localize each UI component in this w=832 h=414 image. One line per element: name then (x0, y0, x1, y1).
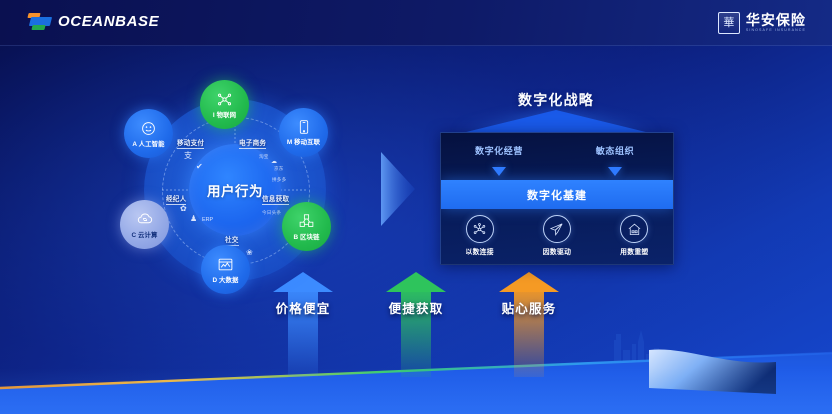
pillar-driven-label: 因数驱动 (543, 246, 571, 256)
node-cloud-computing[interactable]: C 云计算 (120, 200, 169, 249)
brand-label-taobao: 淘宝 (259, 154, 269, 160)
huaan-wordmark-en: SINOSAFE INSURANCE (746, 29, 806, 33)
oceanbase-wordmark: OCEANBASE (58, 13, 159, 30)
cloud-sync-icon (136, 210, 154, 228)
diagram-hub-label: 用户行为 (207, 180, 263, 200)
house-rebuild-icon (620, 215, 648, 243)
segment-label-mobile-pay: 移动支付 (177, 137, 204, 149)
slide-canvas: OCEANBASE 華 华安保险 SINOSAFE INSURANCE 用户行为… (0, 0, 832, 414)
benefit-arrow-price-label: 价格便宜 (255, 298, 351, 317)
node-blockchain-label: B 区块链 (293, 232, 319, 241)
arrow-down-icon-left (492, 167, 506, 176)
huaan-wordmark-cn: 华安保险 (746, 13, 806, 27)
oceanbase-logo: OCEANBASE (28, 13, 159, 30)
node-mobile-internet[interactable]: M 移动互联 (279, 108, 328, 157)
panel-title: 数字化战略 (436, 90, 676, 110)
bigdata-chart-icon (217, 256, 234, 273)
weibo-glyph-icon: ❀ (246, 248, 253, 257)
brand-label-pdd: 拼多多 (272, 177, 286, 183)
node-ai-label: A 人工智能 (132, 139, 164, 148)
oceanbase-flag-icon (28, 13, 51, 30)
flow-chevron-icon (381, 152, 419, 226)
node-bigdata-label: D 大数据 (212, 275, 238, 284)
brand-label-jd: 京东 (274, 166, 284, 172)
mobile-phone-icon (296, 119, 312, 135)
paper-plane-icon (543, 215, 571, 243)
user-behavior-diagram: 用户行为 移动支付 电子商务 经纪人 信息获取 社交 淘宝 京东 拼多多 今日头… (122, 82, 347, 297)
digital-strategy-panel: 数字化战略 数字化经营 敏态组织 数字化基建 (436, 90, 676, 265)
panel-cell-agile-org[interactable]: 敏态组织 (557, 133, 673, 167)
pillar-reshape[interactable]: 用数重塑 (596, 213, 673, 264)
huaan-seal-icon: 華 (718, 12, 740, 34)
panel-cell-operation[interactable]: 数字化经营 (441, 133, 557, 167)
benefit-arrow-access-label: 便捷获取 (368, 298, 464, 317)
gear-glyph-icon: ✿ (180, 204, 187, 213)
benefit-arrow-access[interactable]: 便捷获取 (368, 272, 464, 377)
benefit-arrow-service[interactable]: 贴心服务 (481, 272, 577, 377)
node-iot-label: I 物联网 (213, 110, 236, 119)
person-glyph-icon: ♟ (190, 214, 197, 223)
network-connect-icon (466, 215, 494, 243)
panel-roof-shape (458, 110, 654, 134)
pillar-connect[interactable]: 以数连接 (441, 213, 518, 264)
panel-pillar-row: 以数连接 因数驱动 (441, 213, 673, 264)
benefit-arrow-service-label: 贴心服务 (481, 298, 577, 317)
slide-header: OCEANBASE 華 华安保险 SINOSAFE INSURANCE (0, 0, 832, 46)
pillar-driven[interactable]: 因数驱动 (518, 213, 595, 264)
pillar-connect-label: 以数连接 (465, 246, 493, 256)
huaan-logo: 華 华安保险 SINOSAFE INSURANCE (718, 12, 806, 34)
panel-base-bar-label: 数字化基建 (527, 187, 587, 203)
ai-robot-face-icon (140, 120, 157, 137)
node-mobile-internet-label: M 移动互联 (287, 137, 320, 146)
node-cloud-computing-label: C 云计算 (131, 230, 157, 239)
iot-network-icon (216, 91, 233, 108)
panel-body: 数字化经营 敏态组织 数字化基建 (440, 132, 674, 265)
segment-label-info: 信息获取 (262, 193, 289, 205)
node-ai[interactable]: A 人工智能 (124, 109, 173, 158)
arrow-down-icon-right (608, 167, 622, 176)
jd-mark-icon: ☁ (271, 158, 277, 165)
brand-label-toutiao: 今日头条 (262, 210, 281, 216)
blockchain-cubes-icon (298, 213, 315, 230)
check-glyph-icon: ✔ (196, 162, 203, 171)
alipay-glyph-icon: 支 (184, 150, 192, 161)
pillar-reshape-label: 用数重塑 (620, 246, 648, 256)
panel-base-bar[interactable]: 数字化基建 (441, 180, 673, 209)
node-bigdata[interactable]: D 大数据 (201, 245, 250, 294)
panel-top-row: 数字化经营 敏态组织 (441, 133, 673, 167)
node-blockchain[interactable]: B 区块链 (282, 202, 331, 251)
node-iot[interactable]: I 物联网 (200, 80, 249, 129)
panel-down-arrows (441, 167, 673, 179)
erp-glyph-label: ERP (202, 217, 213, 223)
segment-label-ecommerce: 电子商务 (239, 137, 266, 149)
